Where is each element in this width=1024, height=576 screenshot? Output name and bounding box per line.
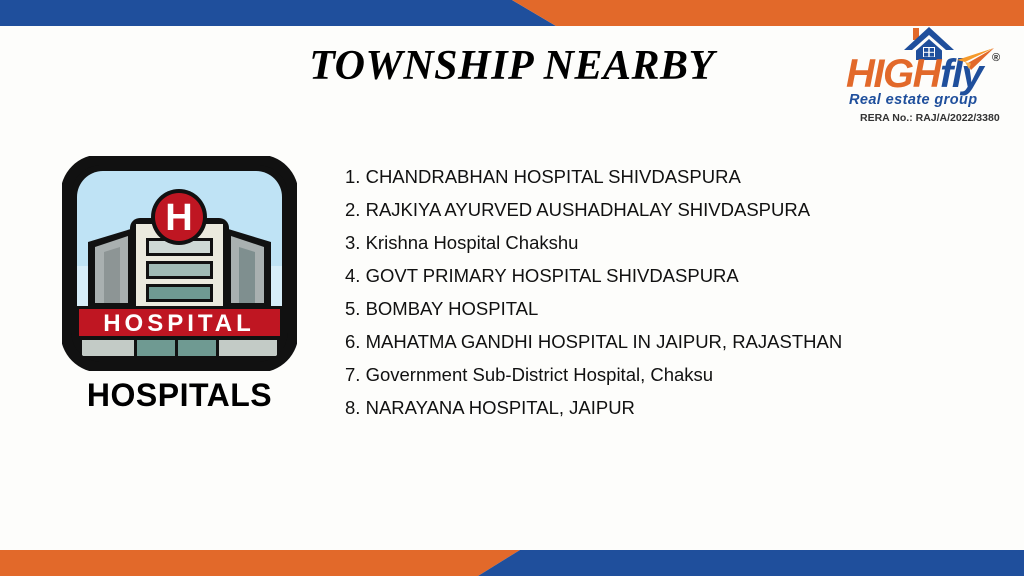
list-item-number: 7.	[345, 364, 360, 385]
top-decorative-banner	[0, 0, 1024, 26]
bottom-decorative-banner	[0, 550, 1024, 576]
list-item-number: 1.	[345, 166, 360, 187]
top-banner-blue-band	[0, 0, 560, 26]
list-item-number: 4.	[345, 265, 360, 286]
logo-word-high: HIGH	[846, 52, 940, 96]
list-item-number: 2.	[345, 199, 360, 220]
svg-text:H: H	[165, 197, 192, 239]
list-item: 7. Government Sub-District Hospital, Cha…	[345, 358, 1005, 391]
list-item: 3. Krishna Hospital Chakshu	[345, 226, 1005, 259]
list-item: 5. BOMBAY HOSPITAL	[345, 292, 1005, 325]
hospital-icon-caption: HOSPITALS	[62, 377, 297, 414]
list-item-number: 8.	[345, 397, 360, 418]
paper-plane-icon	[949, 47, 995, 71]
highfly-logo: HIGHfly ® Real estate group RERA No.: RA…	[846, 26, 1008, 132]
list-item: 6. MAHATMA GANDHI HOSPITAL IN JAIPUR, RA…	[345, 325, 1005, 358]
list-item-label: Krishna Hospital Chakshu	[366, 232, 579, 253]
list-item-number: 5.	[345, 298, 360, 319]
hospital-icon: H HOSPITAL	[62, 156, 302, 371]
list-item-label: BOMBAY HOSPITAL	[366, 298, 539, 319]
list-item-label: GOVT PRIMARY HOSPITAL SHIVDASPURA	[366, 265, 739, 286]
list-item: 8. NARAYANA HOSPITAL, JAIPUR	[345, 391, 1005, 424]
list-item-label: MAHATMA GANDHI HOSPITAL IN JAIPUR, RAJAS…	[366, 331, 843, 352]
bottom-banner-orange-band	[0, 550, 560, 576]
hospital-icon-block: H HOSPITAL HOSPITALS	[62, 156, 302, 414]
list-item: 4. GOVT PRIMARY HOSPITAL SHIVDASPURA	[345, 259, 1005, 292]
registered-trademark-symbol: ®	[992, 52, 1000, 64]
list-item-label: Government Sub-District Hospital, Chaksu	[366, 364, 714, 385]
list-item: 2. RAJKIYA AYURVED AUSHADHALAY SHIVDASPU…	[345, 193, 1005, 226]
list-item-label: NARAYANA HOSPITAL, JAIPUR	[366, 397, 635, 418]
list-item-number: 6.	[345, 331, 360, 352]
list-item-label: RAJKIYA AYURVED AUSHADHALAY SHIVDASPURA	[366, 199, 811, 220]
list-item-label: CHANDRABHAN HOSPITAL SHIVDASPURA	[366, 166, 741, 187]
list-item-number: 3.	[345, 232, 360, 253]
rera-registration-number: RERA No.: RAJ/A/2022/3380	[860, 112, 1010, 124]
nearby-hospitals-list: 1. CHANDRABHAN HOSPITAL SHIVDASPURA 2. R…	[345, 160, 1005, 424]
list-item: 1. CHANDRABHAN HOSPITAL SHIVDASPURA	[345, 160, 1005, 193]
svg-text:HOSPITAL: HOSPITAL	[103, 310, 255, 337]
logo-tagline: Real estate group	[849, 92, 999, 108]
